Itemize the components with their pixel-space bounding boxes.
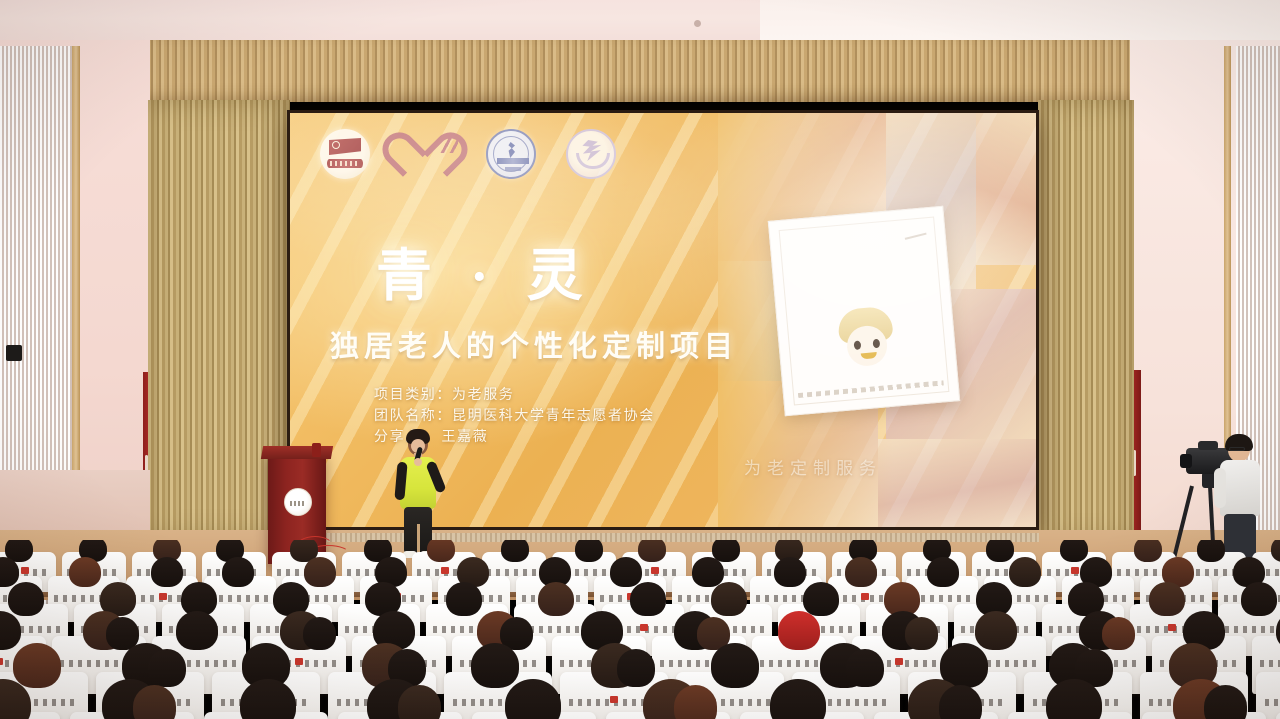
volunteer-hands-shape: [576, 153, 610, 169]
audience-member: [471, 643, 519, 688]
youth-volunteer-association-logo-icon: [566, 129, 616, 179]
seal-year-text: [505, 167, 521, 171]
operator-glasses: [1229, 447, 1245, 451]
slide-logo-row: [320, 129, 616, 179]
wall-mounted-device: [6, 345, 22, 361]
audience-member: [774, 557, 806, 587]
presenter-hand: [414, 458, 422, 466]
audience-member: [8, 582, 44, 616]
chair-cover-seal: [295, 658, 303, 665]
audience-member: [927, 557, 959, 587]
kunming-medical-university-seal-icon: [486, 129, 536, 179]
seal-name-text: [497, 158, 529, 164]
chair-cover-text: [1265, 699, 1280, 706]
collage-caption-text: 为老定制服务: [744, 454, 882, 479]
podium-top-surface: [261, 446, 333, 459]
chair-cover-seal: [0, 658, 3, 665]
audience-member: [846, 649, 883, 687]
audience-member: [176, 611, 218, 650]
slide-meta-category: 项目类别：为老服务: [374, 385, 655, 406]
auditorium-scene: 为老定制服务: [0, 0, 1280, 719]
slide-subtitle: 独居老人的个性化定制项目: [330, 323, 738, 365]
audience-member: [638, 540, 666, 562]
chair-cover-seal: [441, 567, 449, 574]
video-camera-lens: [1180, 454, 1192, 468]
stage-curtain-right: [1038, 100, 1134, 544]
operator-shirt: [1220, 460, 1260, 516]
chair-cover-text: [487, 569, 541, 576]
cyl-star-shape: [332, 141, 340, 149]
chair-cover-seal: [640, 624, 648, 631]
audience-member: [1060, 540, 1088, 562]
audience-member: [711, 643, 759, 688]
chair-cover-text: [912, 595, 973, 602]
audience-member: [69, 557, 101, 587]
chair-cover-seal: [610, 696, 618, 703]
slide-meta-team: 团队名称：昆明医科大学青年志愿者协会: [374, 406, 655, 427]
chair-cover-seal: [651, 567, 659, 574]
audience-member: [427, 540, 455, 562]
audience-member: [975, 611, 1017, 650]
audience-member: [1149, 582, 1185, 616]
audience-member: [610, 557, 642, 587]
back-wall-slat-valance: [140, 40, 1140, 102]
audience-member: [1134, 540, 1162, 562]
audience-member: [538, 582, 574, 616]
audience-member: [803, 582, 839, 616]
audience-member-with-red-cap: [778, 611, 820, 650]
chair-cover-text: [1260, 660, 1280, 667]
audience-member: [501, 540, 529, 562]
ceiling-speaker-icon: [694, 20, 701, 27]
audience-member: [304, 557, 336, 587]
chair-cover-text: [1225, 626, 1280, 633]
video-camera-top-handle: [1198, 441, 1218, 450]
podium-microphone: [312, 443, 321, 457]
podium-emblem: [284, 488, 312, 516]
heart-motion-lines: [440, 137, 458, 153]
chair-cover-seal: [159, 593, 167, 600]
audience-member: [446, 582, 482, 616]
chibi-character-illustration: [833, 305, 900, 374]
slide-main-title: 青 · 灵: [376, 231, 595, 312]
chair-cover-seal: [895, 658, 903, 665]
audience-member: [1102, 617, 1135, 650]
slide-photo-collage: 为老定制服务: [718, 113, 1036, 527]
audience-member: [575, 540, 603, 562]
operator-arm: [1214, 468, 1226, 508]
communist-youth-league-emblem-icon: [320, 129, 370, 179]
cyl-text-band: [327, 159, 363, 168]
audience-member: [845, 557, 877, 587]
chair-cover-seal: [1071, 567, 1079, 574]
audience-member: [711, 582, 747, 616]
audience-seating: [0, 540, 1280, 719]
chair-cover-text: [210, 595, 271, 602]
audience-member: [986, 540, 1014, 562]
audience-member: [148, 649, 185, 687]
volunteer-heart-hand-logo-icon: [400, 129, 456, 179]
audience-member: [617, 649, 654, 687]
audience-member: [1241, 582, 1277, 616]
audience-member: [13, 643, 61, 688]
audience-member: [303, 617, 336, 650]
audience-member: [692, 557, 724, 587]
chair-cover-seal: [21, 567, 29, 574]
audience-member: [151, 557, 183, 587]
audience-member: [905, 617, 938, 650]
audience-member: [1197, 540, 1225, 562]
audience-member: [222, 557, 254, 587]
audience-member: [630, 582, 666, 616]
illustration-card: [768, 206, 960, 417]
chair-cover-seal: [861, 593, 869, 600]
audience-member: [1009, 557, 1041, 587]
chair-cover-seal: [1168, 624, 1176, 631]
